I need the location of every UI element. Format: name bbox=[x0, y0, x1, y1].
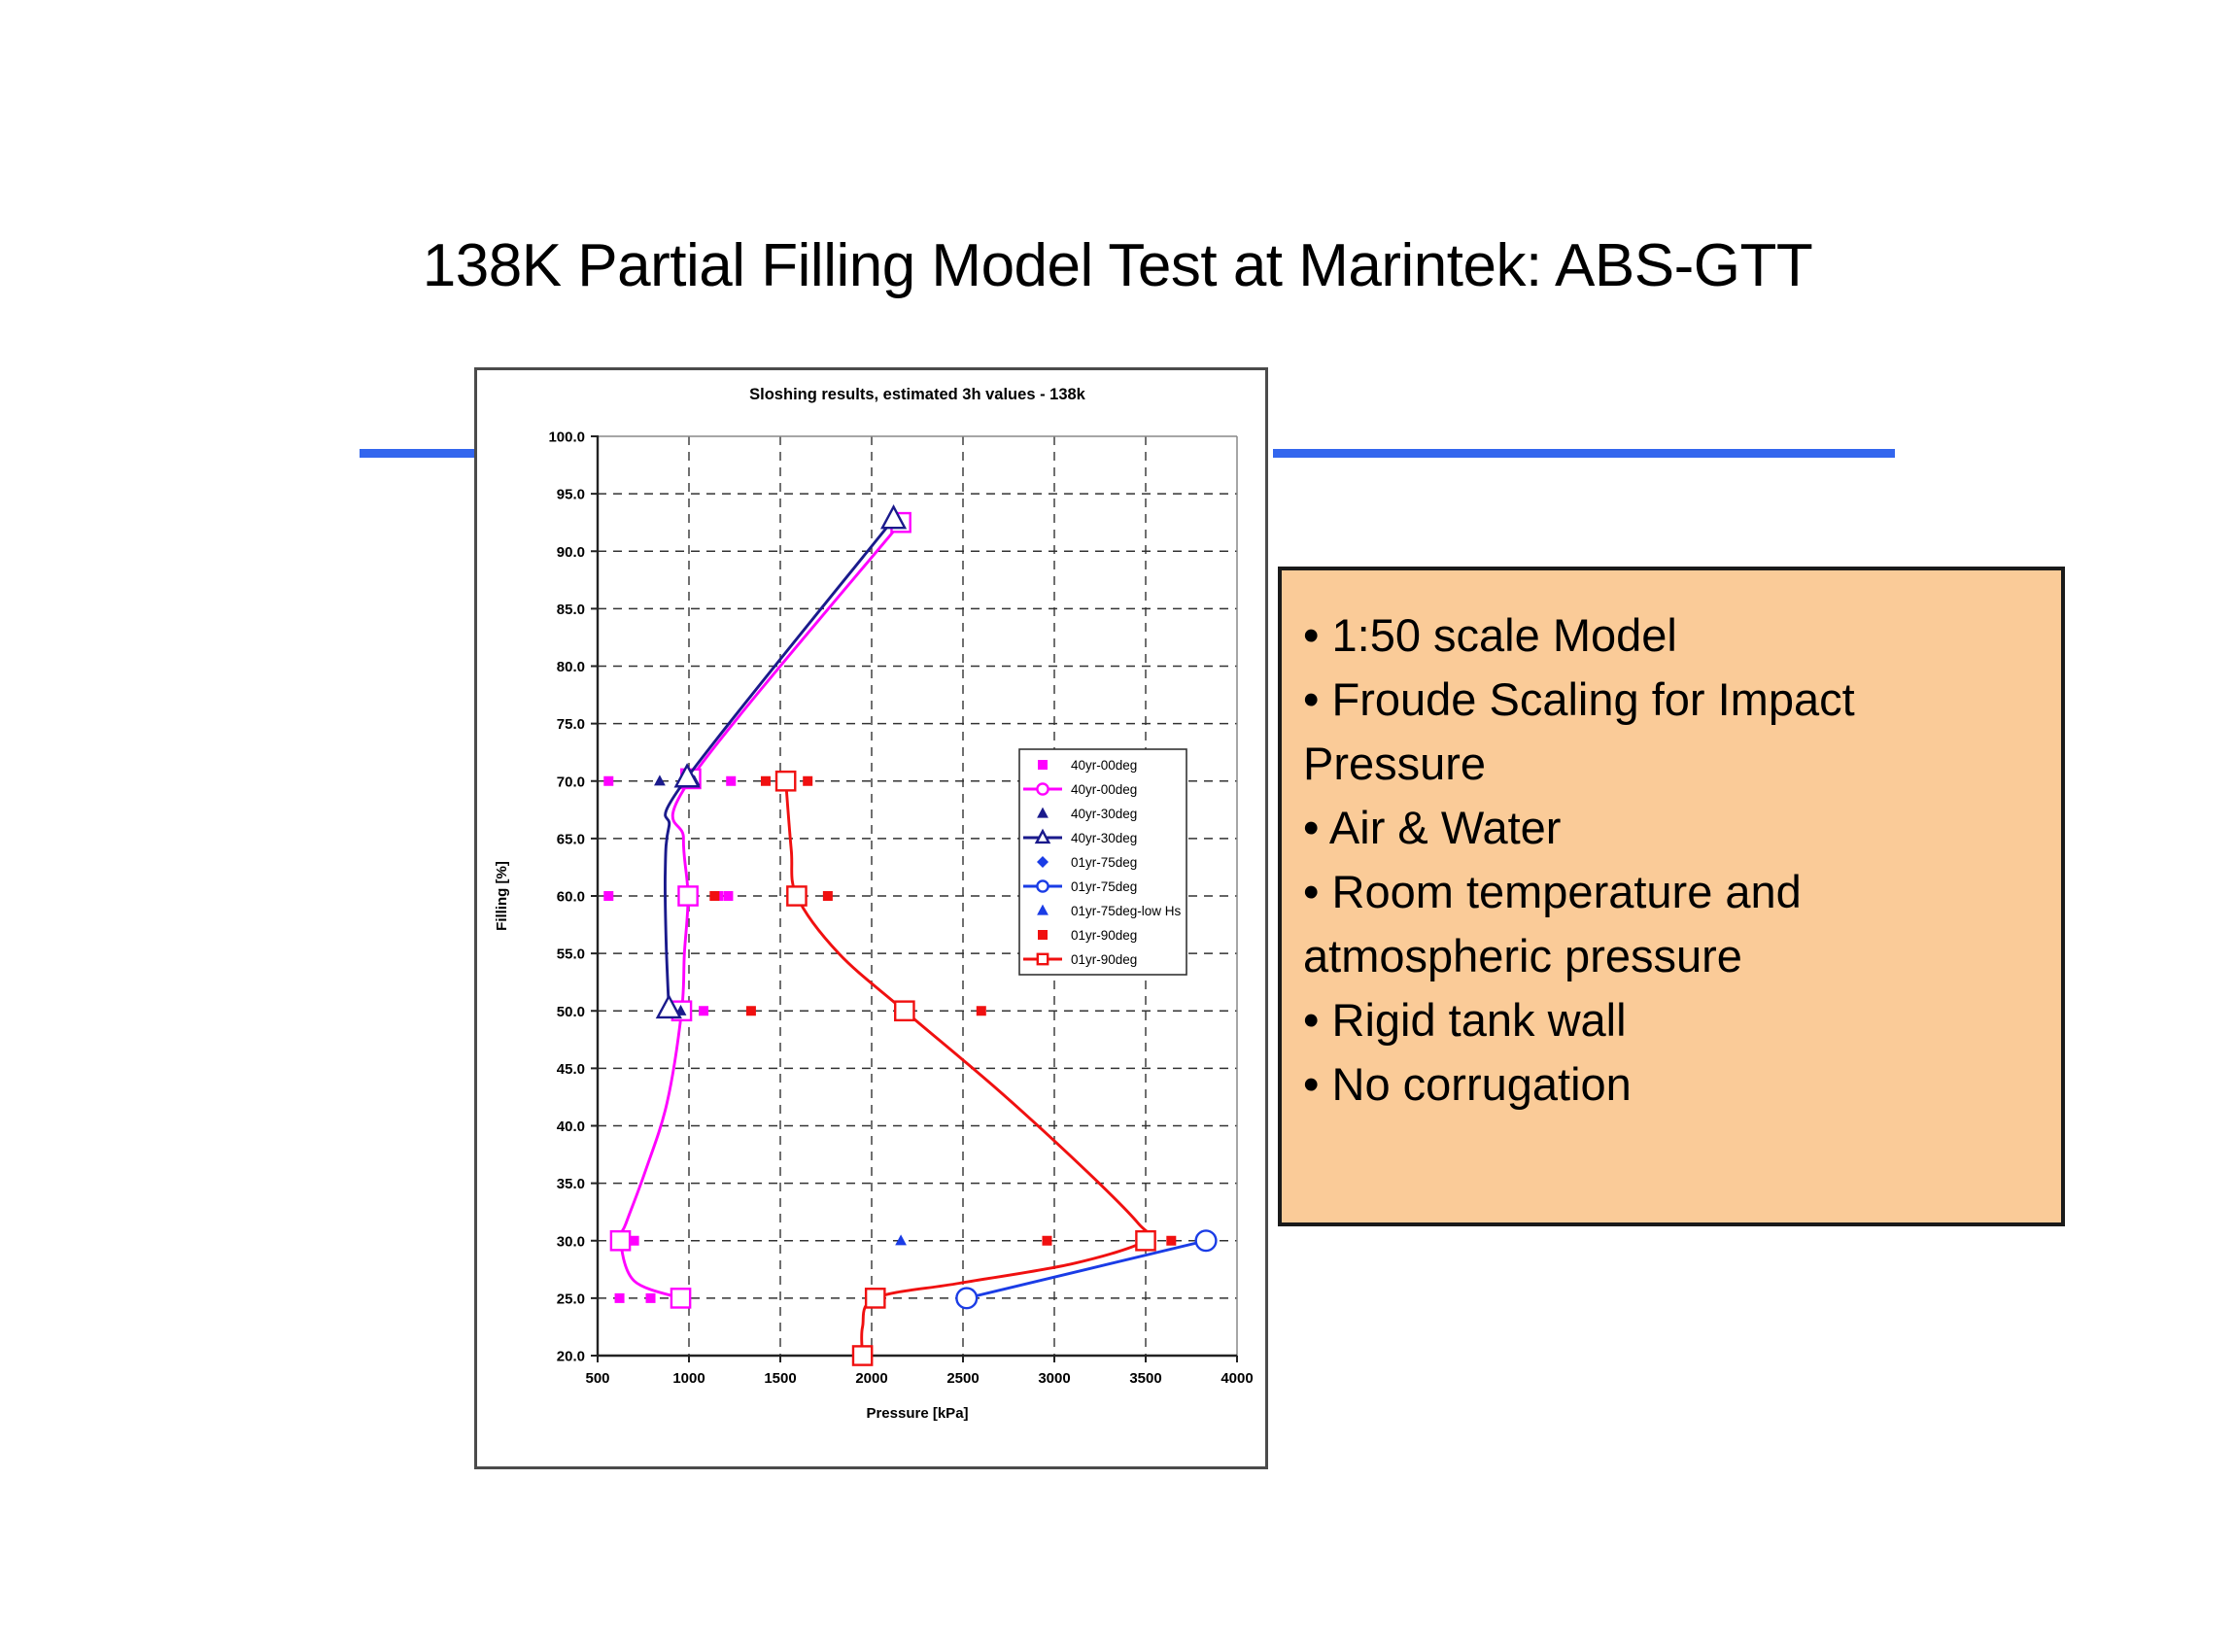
legend-label: 01yr-75deg-low Hs bbox=[1071, 904, 1182, 918]
data-point-marker bbox=[709, 891, 719, 901]
legend-item: 01yr-90deg bbox=[1023, 952, 1137, 967]
bullet-line: atmospheric pressure bbox=[1303, 924, 2036, 988]
legend-label: 01yr-90deg bbox=[1071, 928, 1137, 943]
data-point-marker bbox=[726, 776, 736, 786]
legend-item: 40yr-30deg bbox=[1023, 831, 1137, 845]
bullet-line: Pressure bbox=[1303, 732, 2036, 796]
bullet-line: • 1:50 scale Model bbox=[1303, 603, 2036, 668]
data-point-marker bbox=[699, 1006, 708, 1015]
data-point-marker bbox=[823, 891, 833, 901]
legend-label: 40yr-00deg bbox=[1071, 758, 1137, 773]
divider-rule-right bbox=[1273, 449, 1895, 458]
legend-label: 40yr-30deg bbox=[1071, 831, 1137, 845]
data-point-marker bbox=[603, 891, 613, 901]
bullet-line: • Air & Water bbox=[1303, 796, 2036, 860]
data-point-marker bbox=[1038, 954, 1048, 964]
bullet-line: • Rigid tank wall bbox=[1303, 988, 2036, 1052]
data-point-marker bbox=[723, 891, 733, 901]
x-tick-label: 2000 bbox=[855, 1370, 887, 1387]
x-tick-label: 500 bbox=[585, 1370, 609, 1387]
chart-series bbox=[611, 513, 911, 1307]
legend-label: 01yr-75deg bbox=[1071, 879, 1137, 894]
x-axis: 5001000150020002500300035004000Pressure … bbox=[585, 1356, 1253, 1422]
data-point-marker bbox=[956, 1289, 977, 1309]
data-point-marker bbox=[1042, 1236, 1051, 1246]
y-tick-label: 70.0 bbox=[557, 774, 585, 790]
data-point-marker bbox=[1136, 1231, 1154, 1250]
x-tick-label: 3500 bbox=[1129, 1370, 1161, 1387]
data-point-marker bbox=[895, 1002, 913, 1020]
data-point-marker bbox=[603, 776, 613, 786]
y-tick-label: 95.0 bbox=[557, 487, 585, 503]
chart-series bbox=[603, 776, 736, 1303]
data-point-marker bbox=[803, 776, 812, 786]
data-point-marker bbox=[611, 1231, 630, 1250]
bullet-line: • Room temperature and bbox=[1303, 860, 2036, 924]
bullet-line: • No corrugation bbox=[1303, 1052, 2036, 1117]
x-tick-label: 4000 bbox=[1221, 1370, 1253, 1387]
y-tick-label: 55.0 bbox=[557, 946, 585, 963]
data-point-marker bbox=[671, 1289, 690, 1307]
data-point-marker bbox=[977, 1006, 986, 1015]
bullet-line: • Froude Scaling for Impact bbox=[1303, 668, 2036, 732]
data-point-marker bbox=[866, 1289, 884, 1307]
legend-label: 40yr-30deg bbox=[1071, 807, 1137, 821]
chart-title: Sloshing results, estimated 3h values - … bbox=[749, 386, 1086, 403]
sloshing-results-chart: Sloshing results, estimated 3h values - … bbox=[477, 370, 1265, 1466]
data-point-marker bbox=[776, 772, 795, 790]
y-tick-label: 90.0 bbox=[557, 544, 585, 561]
series-line bbox=[967, 1241, 1206, 1298]
y-tick-label: 20.0 bbox=[557, 1349, 585, 1365]
y-tick-label: 30.0 bbox=[557, 1233, 585, 1250]
y-tick-label: 80.0 bbox=[557, 659, 585, 675]
data-point-marker bbox=[787, 886, 806, 905]
y-tick-label: 100.0 bbox=[548, 430, 585, 446]
data-point-marker bbox=[895, 1234, 907, 1245]
x-axis-title: Pressure [kPa] bbox=[866, 1405, 968, 1422]
data-point-marker bbox=[1196, 1230, 1217, 1251]
legend-item: 40yr-00deg bbox=[1023, 782, 1137, 797]
y-tick-label: 40.0 bbox=[557, 1119, 585, 1135]
data-point-marker bbox=[761, 776, 771, 786]
data-point-marker bbox=[853, 1346, 872, 1364]
y-axis-title: Filling [%] bbox=[494, 861, 510, 931]
model-description-box: • 1:50 scale Model • Froude Scaling for … bbox=[1278, 567, 2065, 1226]
data-point-marker bbox=[654, 774, 666, 785]
x-tick-label: 3000 bbox=[1038, 1370, 1070, 1387]
data-point-marker bbox=[646, 1293, 656, 1303]
legend-label: 01yr-75deg bbox=[1071, 855, 1137, 870]
page-title: 138K Partial Filling Model Test at Marin… bbox=[0, 231, 2235, 300]
chart-series bbox=[895, 1234, 907, 1245]
series-line bbox=[620, 523, 901, 1298]
y-axis: 20.025.030.035.040.045.050.055.060.065.0… bbox=[494, 430, 599, 1365]
data-point-marker bbox=[1037, 783, 1048, 794]
data-point-marker bbox=[746, 1006, 756, 1015]
y-tick-label: 35.0 bbox=[557, 1176, 585, 1192]
chart-legend: 40yr-00deg40yr-00deg40yr-30deg40yr-30deg… bbox=[1019, 749, 1186, 975]
legend-label: 40yr-00deg bbox=[1071, 782, 1137, 797]
data-point-marker bbox=[1038, 930, 1048, 940]
y-tick-label: 85.0 bbox=[557, 602, 585, 618]
y-tick-label: 50.0 bbox=[557, 1004, 585, 1020]
y-tick-label: 45.0 bbox=[557, 1061, 585, 1078]
legend-label: 01yr-90deg bbox=[1071, 952, 1137, 967]
data-point-marker bbox=[1038, 760, 1048, 770]
data-point-marker bbox=[615, 1293, 625, 1303]
y-tick-label: 65.0 bbox=[557, 831, 585, 847]
chart-series bbox=[658, 507, 905, 1017]
x-tick-label: 1000 bbox=[672, 1370, 705, 1387]
chart-series bbox=[956, 1230, 1216, 1308]
data-point-marker bbox=[1037, 880, 1048, 891]
x-tick-label: 2500 bbox=[946, 1370, 979, 1387]
y-tick-label: 60.0 bbox=[557, 889, 585, 906]
y-tick-label: 75.0 bbox=[557, 716, 585, 733]
data-point-marker bbox=[1166, 1236, 1176, 1246]
y-tick-label: 25.0 bbox=[557, 1291, 585, 1307]
data-point-marker bbox=[678, 886, 697, 905]
chart-image-frame: Sloshing results, estimated 3h values - … bbox=[474, 367, 1268, 1469]
x-tick-label: 1500 bbox=[764, 1370, 796, 1387]
series-line bbox=[665, 519, 893, 1009]
legend-item: 01yr-75deg bbox=[1023, 879, 1137, 894]
